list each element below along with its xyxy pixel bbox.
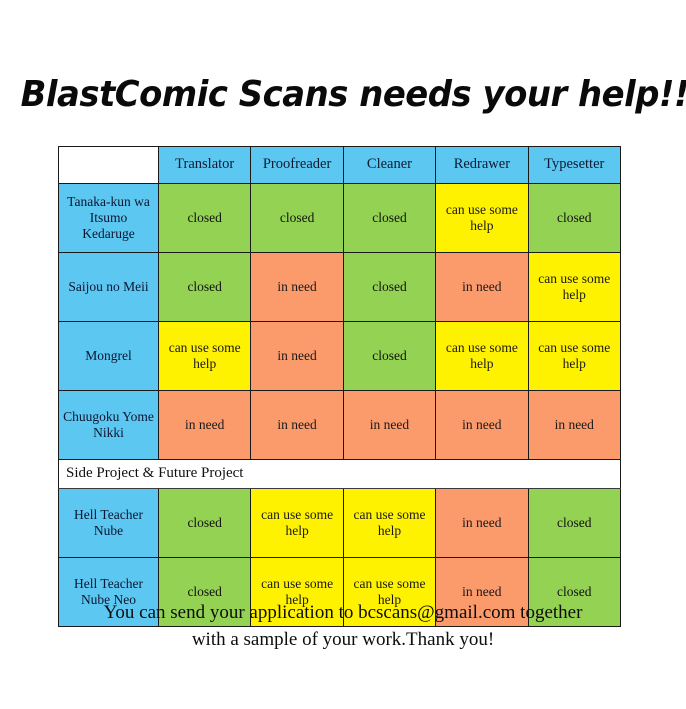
footer-line-1: You can send your application to bcscans… xyxy=(0,600,686,627)
footer-contact: You can send your application to bcscans… xyxy=(0,600,686,654)
project-name-cell: Mongrel xyxy=(59,322,159,391)
project-name-cell: Hell Teacher Nube xyxy=(59,489,159,558)
column-header-cleaner: Cleaner xyxy=(343,147,435,184)
table-row: Hell Teacher Nubeclosedcan use some help… xyxy=(59,489,621,558)
status-cell: in need xyxy=(251,391,343,460)
column-header-translator: Translator xyxy=(159,147,251,184)
page-root: { "page": { "title": "BlastComic Scans n… xyxy=(0,0,686,709)
table-corner-cell xyxy=(59,147,159,184)
status-cell: in need xyxy=(251,253,343,322)
status-cell: can use some help xyxy=(436,322,528,391)
recruitment-table-container: TranslatorProofreaderCleanerRedrawerType… xyxy=(58,146,620,627)
status-cell: closed xyxy=(251,184,343,253)
status-cell: can use some help xyxy=(251,489,343,558)
status-cell: closed xyxy=(343,253,435,322)
status-cell: in need xyxy=(528,391,620,460)
column-header-typesetter: Typesetter xyxy=(528,147,620,184)
table-row: Mongrelcan use some helpin needclosedcan… xyxy=(59,322,621,391)
status-cell: can use some help xyxy=(159,322,251,391)
status-cell: can use some help xyxy=(528,322,620,391)
status-cell: can use some help xyxy=(528,253,620,322)
status-cell: closed xyxy=(528,489,620,558)
table-header-row: TranslatorProofreaderCleanerRedrawerType… xyxy=(59,147,621,184)
status-cell: in need xyxy=(436,489,528,558)
page-title: BlastComic Scans needs your help!! xyxy=(21,76,666,114)
section-divider-row: Side Project & Future Project xyxy=(59,460,621,489)
status-cell: in need xyxy=(159,391,251,460)
project-name-cell: Tanaka-kun wa Itsumo Kedaruge xyxy=(59,184,159,253)
status-cell: closed xyxy=(343,184,435,253)
page-title-container: BlastComic Scans needs your help!! xyxy=(0,76,686,114)
section-divider-label: Side Project & Future Project xyxy=(59,460,621,489)
column-header-proofreader: Proofreader xyxy=(251,147,343,184)
status-cell: can use some help xyxy=(343,489,435,558)
status-cell: in need xyxy=(436,391,528,460)
status-cell: closed xyxy=(528,184,620,253)
status-cell: closed xyxy=(159,184,251,253)
table-row: Chuugoku Yome Nikkiin needin needin need… xyxy=(59,391,621,460)
project-name-cell: Saijou no Meii xyxy=(59,253,159,322)
status-cell: closed xyxy=(159,489,251,558)
table-row: Tanaka-kun wa Itsumo Kedarugeclosedclose… xyxy=(59,184,621,253)
status-cell: in need xyxy=(436,253,528,322)
table-row: Saijou no Meiiclosedin needclosedin need… xyxy=(59,253,621,322)
project-name-cell: Chuugoku Yome Nikki xyxy=(59,391,159,460)
status-cell: can use some help xyxy=(436,184,528,253)
status-cell: closed xyxy=(159,253,251,322)
status-cell: closed xyxy=(343,322,435,391)
footer-line-2: with a sample of your work.Thank you! xyxy=(0,627,686,654)
recruitment-status-table: TranslatorProofreaderCleanerRedrawerType… xyxy=(58,146,621,627)
status-cell: in need xyxy=(343,391,435,460)
status-cell: in need xyxy=(251,322,343,391)
column-header-redrawer: Redrawer xyxy=(436,147,528,184)
